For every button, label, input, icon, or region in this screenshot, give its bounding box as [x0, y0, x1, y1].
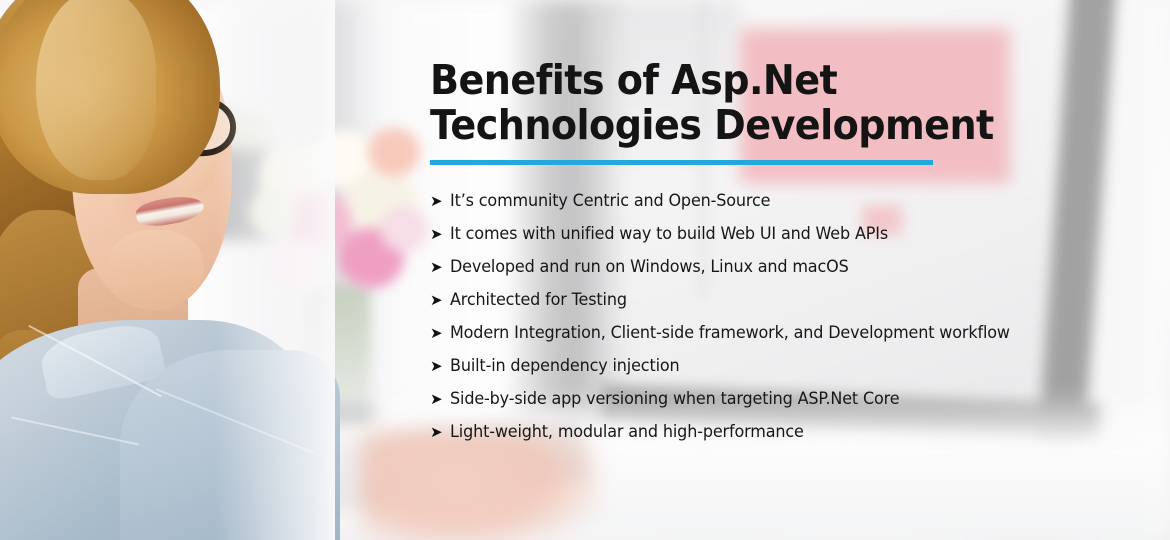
arrow-right-icon: ➤ — [430, 293, 450, 308]
arrow-right-icon: ➤ — [430, 260, 450, 275]
list-item-label: Side-by-side app versioning when targeti… — [450, 389, 899, 408]
arrow-right-icon: ➤ — [430, 359, 450, 374]
list-item-label: Developed and run on Windows, Linux and … — [450, 257, 849, 276]
benefits-banner: Benefits of Asp.Net Technologies Develop… — [0, 0, 1170, 540]
list-item: ➤ It’s community Centric and Open-Source — [430, 191, 1130, 224]
accent-rule — [430, 160, 933, 165]
benefits-list: ➤ It’s community Centric and Open-Source… — [430, 191, 1130, 455]
list-item: ➤ It comes with unified way to build Web… — [430, 224, 1130, 257]
list-item: ➤ Architected for Testing — [430, 290, 1130, 323]
list-item: ➤ Side-by-side app versioning when targe… — [430, 389, 1130, 422]
list-item-label: It comes with unified way to build Web U… — [450, 224, 888, 243]
hair-strand — [36, 0, 156, 180]
arrow-right-icon: ➤ — [430, 194, 450, 209]
arrow-right-icon: ➤ — [430, 227, 450, 242]
arrow-right-icon: ➤ — [430, 326, 450, 341]
list-item-label: Architected for Testing — [450, 290, 627, 309]
list-item-label: It’s community Centric and Open-Source — [450, 191, 770, 210]
list-item: ➤ Light-weight, modular and high-perform… — [430, 422, 1130, 455]
arrow-right-icon: ➤ — [430, 392, 450, 407]
arrow-right-icon: ➤ — [430, 425, 450, 440]
list-item: ➤ Developed and run on Windows, Linux an… — [430, 257, 1130, 290]
list-item-label: Built-in dependency injection — [450, 356, 680, 375]
list-item: ➤ Built-in dependency injection — [430, 356, 1130, 389]
banner-content: Benefits of Asp.Net Technologies Develop… — [430, 58, 1130, 455]
list-item-label: Modern Integration, Client-side framewor… — [450, 323, 1010, 342]
chin — [108, 230, 204, 308]
page-title: Benefits of Asp.Net Technologies Develop… — [430, 58, 1081, 148]
woman-portrait — [0, 0, 300, 540]
list-item-label: Light-weight, modular and high-performan… — [450, 422, 804, 441]
list-item: ➤ Modern Integration, Client-side framew… — [430, 323, 1130, 356]
